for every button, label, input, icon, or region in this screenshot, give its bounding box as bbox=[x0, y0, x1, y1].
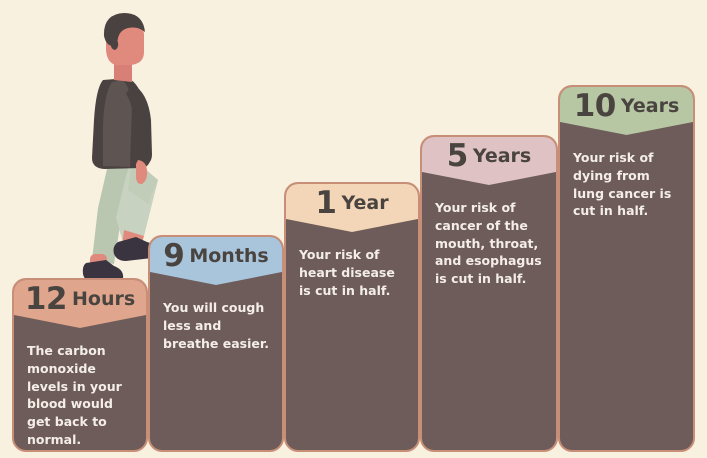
step-description: The carbon monoxide levels in your blood… bbox=[14, 330, 146, 452]
step-description: Your risk of dying from lung cancer is c… bbox=[560, 137, 693, 230]
step-card-3[interactable]: 1YearYour risk of heart disease is cut i… bbox=[284, 182, 420, 452]
jacket bbox=[92, 78, 150, 169]
step-description: Your risk of heart disease is cut in hal… bbox=[286, 234, 418, 309]
step-number: 9 bbox=[163, 241, 184, 272]
front-ankle bbox=[122, 230, 144, 250]
step-card-2[interactable]: 9MonthsYou will cough less and breathe e… bbox=[148, 235, 284, 452]
front-thigh-shade bbox=[128, 158, 158, 204]
step-card-1[interactable]: 12HoursThe carbon monoxide levels in you… bbox=[12, 278, 148, 452]
back-leg bbox=[92, 156, 132, 264]
step-unit: Year bbox=[341, 194, 388, 213]
sideburn bbox=[111, 40, 118, 50]
jacket-shade bbox=[103, 80, 132, 167]
header-notch bbox=[150, 272, 282, 288]
step-unit: Hours bbox=[72, 290, 135, 309]
header-notch bbox=[286, 219, 418, 235]
header-notch bbox=[14, 315, 146, 331]
head bbox=[106, 15, 144, 65]
step-unit: Years bbox=[473, 147, 531, 166]
header-notch bbox=[422, 172, 556, 188]
step-description: Your risk of cancer of the mouth, throat… bbox=[422, 187, 556, 298]
step-number: 12 bbox=[25, 284, 67, 315]
step-header-3: 1Year bbox=[286, 184, 418, 234]
step-header-1: 12Hours bbox=[14, 280, 146, 330]
step-number: 5 bbox=[447, 141, 468, 172]
infographic-canvas: 12HoursThe carbon monoxide levels in you… bbox=[0, 0, 707, 458]
hand bbox=[136, 160, 147, 184]
step-card-4[interactable]: 5YearsYour risk of cancer of the mouth, … bbox=[420, 135, 558, 452]
step-unit: Years bbox=[621, 97, 679, 116]
step-card-5[interactable]: 10YearsYour risk of dying from lung canc… bbox=[558, 85, 695, 452]
step-header-5: 10Years bbox=[560, 87, 693, 137]
step-description: You will cough less and breathe easier. bbox=[150, 287, 282, 362]
hair bbox=[104, 13, 145, 46]
back-ankle bbox=[90, 254, 107, 268]
step-number: 10 bbox=[574, 91, 616, 122]
step-header-4: 5Years bbox=[422, 137, 556, 187]
neck bbox=[114, 60, 132, 82]
step-unit: Months bbox=[189, 247, 268, 266]
sleeve bbox=[126, 84, 152, 165]
front-leg bbox=[116, 158, 158, 246]
step-header-2: 9Months bbox=[150, 237, 282, 287]
step-number: 1 bbox=[315, 188, 336, 219]
header-notch bbox=[560, 122, 693, 138]
